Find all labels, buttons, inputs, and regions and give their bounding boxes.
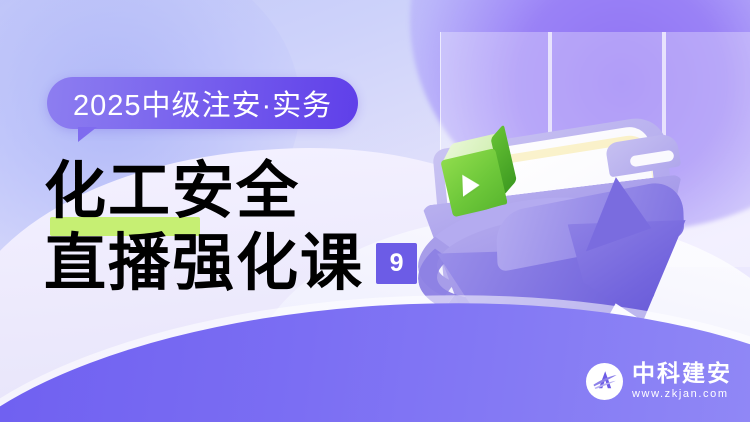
subject-badge: 2025中级注安·实务 bbox=[47, 77, 358, 129]
title-block: 化工安全 直播强化课 9 bbox=[44, 155, 474, 299]
title-line-2-row: 直播强化课 9 bbox=[44, 227, 474, 299]
brand-website: www.zkjan.com bbox=[632, 388, 732, 400]
subject-badge-label: 2025中级注安·实务 bbox=[73, 82, 332, 124]
zkjan-circle-logo-icon bbox=[586, 363, 623, 400]
brand-name: 中科建安 bbox=[632, 362, 732, 386]
title-line-2: 直播强化课 bbox=[44, 227, 364, 299]
brand-logo-text: 中科建安 www.zkjan.com bbox=[632, 362, 732, 400]
title-line-1: 化工安全 bbox=[44, 155, 474, 227]
subject-badge-tail bbox=[78, 127, 97, 142]
brand-logo: 中科建安 www.zkjan.com bbox=[586, 362, 732, 400]
course-banner: 2025中级注安·实务 化工安全 直播强化课 9 中科建安 www.zkjan.… bbox=[0, 0, 750, 422]
episode-badge: 9 bbox=[376, 243, 417, 284]
